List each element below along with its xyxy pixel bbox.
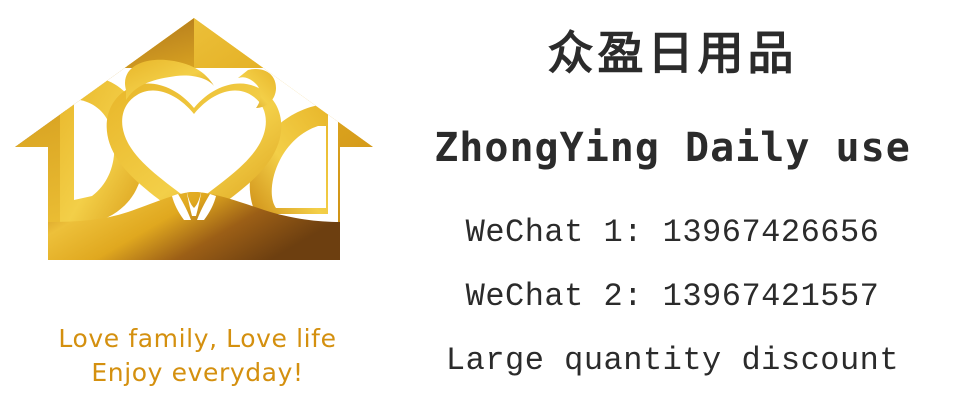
- tagline-line-2: Enjoy everyday!: [0, 356, 395, 390]
- shop-name-english: ZhongYing Daily use: [390, 122, 955, 174]
- tagline: Love family, Love life Enjoy everyday!: [0, 322, 395, 390]
- house-with-heart-logo: [8, 8, 380, 260]
- wechat-2-line: WeChat 2: 13967421557: [390, 276, 955, 318]
- tagline-line-1: Love family, Love life: [0, 322, 395, 356]
- shop-name-chinese: 众盈日用品: [390, 24, 955, 82]
- banner-canvas: Love family, Love life Enjoy everyday! 众…: [0, 0, 955, 400]
- info-block: 众盈日用品 ZhongYing Daily use WeChat 1: 1396…: [390, 0, 955, 400]
- brand-block: Love family, Love life Enjoy everyday!: [0, 0, 395, 400]
- house-body: [15, 18, 373, 260]
- wechat-1-line: WeChat 1: 13967426656: [390, 212, 955, 254]
- discount-note: Large quantity discount: [390, 340, 955, 382]
